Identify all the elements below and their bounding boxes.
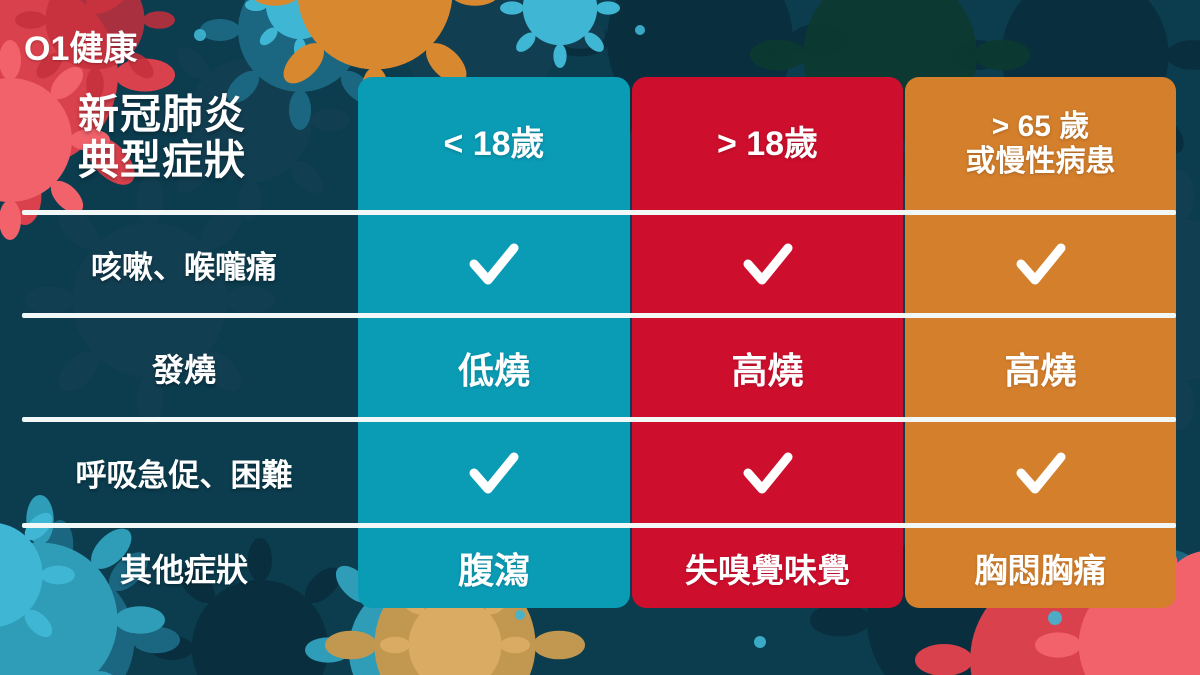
column-header-over65-line-2: 或慢性病患 xyxy=(966,145,1116,180)
column-header-over18-line-1: > 18歲 xyxy=(717,125,818,164)
row-label-other: 其他症狀 xyxy=(14,528,354,608)
infographic-sheet: O1健康 新冠肺炎 典型症狀 < 18歲 > 18歲 > 65 歲 或慢性病患 … xyxy=(0,0,1200,675)
cell-breath-under18 xyxy=(358,422,630,523)
check-icon xyxy=(742,447,794,499)
divider-row-1 xyxy=(22,313,1176,318)
cell-breath-over18 xyxy=(632,422,903,523)
page-title-line-2: 典型症狀 xyxy=(78,138,358,184)
column-header-over18: > 18歲 xyxy=(632,77,903,212)
check-icon xyxy=(468,447,520,499)
cell-cough-over65 xyxy=(905,215,1176,313)
cell-cough-over18 xyxy=(632,215,903,313)
cell-other-over65: 胸悶胸痛 xyxy=(905,528,1176,608)
row-label-fever: 發燒 xyxy=(14,318,354,417)
cell-other-under18: 腹瀉 xyxy=(358,528,630,608)
page-title: 新冠肺炎 典型症狀 xyxy=(78,92,358,184)
check-icon xyxy=(742,238,794,290)
cell-fever-over65: 高燒 xyxy=(905,318,1176,417)
column-header-over65-line-1: > 65 歲 xyxy=(966,110,1116,145)
cell-cough-under18 xyxy=(358,215,630,313)
cell-fever-over18: 高燒 xyxy=(632,318,903,417)
column-header-under18-line-1: < 18歲 xyxy=(443,125,544,164)
column-header-over65: > 65 歲 或慢性病患 xyxy=(905,77,1176,212)
cell-fever-under18: 低燒 xyxy=(358,318,630,417)
row-label-breath: 呼吸急促、困難 xyxy=(14,422,354,523)
cell-other-over18: 失嗅覺味覺 xyxy=(632,528,903,608)
check-icon xyxy=(1015,447,1067,499)
divider-row-2 xyxy=(22,417,1176,422)
page-title-line-1: 新冠肺炎 xyxy=(78,92,358,138)
divider-header xyxy=(22,210,1176,215)
column-header-under18: < 18歲 xyxy=(358,77,630,212)
cell-breath-over65 xyxy=(905,422,1176,523)
check-icon xyxy=(468,238,520,290)
row-label-cough: 咳嗽、喉嚨痛 xyxy=(14,215,354,313)
check-icon xyxy=(1015,238,1067,290)
brand-logo: O1健康 xyxy=(24,32,137,66)
divider-row-3 xyxy=(22,523,1176,528)
